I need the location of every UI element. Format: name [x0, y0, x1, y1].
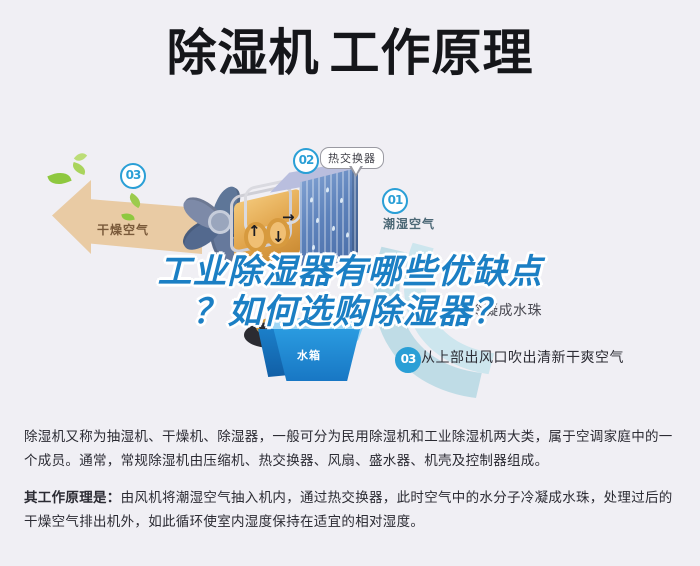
principle-lead: 其工作原理是：	[24, 490, 121, 506]
infographic-banner: 除湿机工作原理 干燥空气 ↑ ↓ →	[0, 0, 700, 410]
title-part-working-principle: 工作原理	[330, 24, 534, 82]
page-root: 除湿机工作原理 干燥空气 ↑ ↓ →	[0, 0, 700, 566]
leaf-icon	[47, 169, 71, 189]
paragraph-principle: 其工作原理是：由风机将潮湿空气抽入机内，通过热交换器，此时空气中的水分子冷凝成水…	[24, 487, 676, 534]
infographic-title: 除湿机工作原理	[0, 28, 700, 78]
humid-air-label: 潮湿空气	[383, 215, 435, 232]
flow-arrow-up-icon: ↑	[248, 224, 261, 239]
flow-arrow-down-icon: ↓	[272, 230, 285, 245]
water-tank-label: 水箱	[297, 347, 321, 363]
step-badge-03-bottom: 03	[395, 347, 421, 373]
title-part-dehumidifier: 除湿机	[167, 24, 320, 82]
article-body: 除湿机又称为抽湿机、干燥机、除湿器，一般可分为民用除湿机和工业除湿机两大类，属于…	[0, 410, 700, 566]
leaf-icon	[74, 150, 87, 164]
outlet-caption: 从上部出风口吹出清新干爽空气	[421, 347, 624, 367]
dry-air-label: 干燥空气	[97, 221, 149, 238]
compressor-coil-icon: ↑ ↓ →	[228, 188, 306, 268]
paragraph-definition: 除湿机又称为抽湿机、干燥机、除湿器，一般可分为民用除湿机和工业除湿机两大类，属于…	[24, 426, 676, 473]
air-inlet-arrow-icon	[352, 262, 386, 273]
callout-pointer-icon	[349, 166, 363, 177]
step-badge-03-top: 03	[120, 163, 146, 189]
flow-arrow-right-icon: →	[282, 210, 295, 225]
principle-rest: 由风机将潮湿空气抽入机内，通过热交换器，此时空气中的水分子冷凝成水珠，处理过后的…	[24, 490, 673, 530]
step-badge-01: 01	[382, 188, 408, 214]
step-badge-02: 02	[293, 148, 319, 174]
leaf-icon	[71, 162, 87, 175]
condense-caption: 器冷凝成水珠	[455, 300, 542, 320]
